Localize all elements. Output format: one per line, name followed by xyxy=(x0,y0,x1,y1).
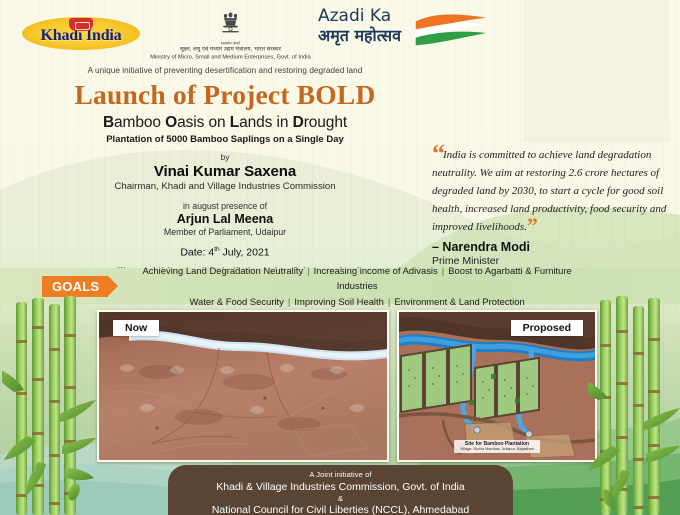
date-suffix: July, 2021 xyxy=(220,246,270,258)
goals-row-1: Achieving Land Degradation Neutrality|In… xyxy=(134,263,580,293)
goal-separator: | xyxy=(442,265,444,276)
quote-open-mark: “ xyxy=(432,139,443,168)
charkha-spinning-wheel-icon xyxy=(69,18,93,31)
goal-item: Water & Food Security xyxy=(190,296,284,307)
main-text-block: A unique initiative of preventing desert… xyxy=(30,66,420,289)
tagline: A unique initiative of preventing desert… xyxy=(30,66,420,75)
quote-body: “India is committed to achieve land degr… xyxy=(432,145,670,235)
ministry-english-label: Ministry of Micro, Small and Medium Ente… xyxy=(134,54,328,62)
caption-subtitle: Village: Nichla Mandwa, Udaipur, Rajasth… xyxy=(460,447,534,452)
plantation-line: Plantation of 5000 Bamboo Saplings on a … xyxy=(30,134,420,145)
photo-label-now: Now xyxy=(113,320,159,336)
presence-label: in august presence of xyxy=(30,201,420,211)
photos-section: Now xyxy=(0,304,680,474)
subtitle-ands: ands in xyxy=(239,114,293,131)
goal-item: Improving Soil Health xyxy=(294,296,384,307)
footer-card: A Joint initiative of Khadi & Village In… xyxy=(168,465,513,515)
satellite-photo-proposed: Proposed Site for Bamboo Plantation Vill… xyxy=(397,310,597,462)
subtitle-amboo: amboo xyxy=(114,114,165,131)
satellite-photo-now: Now xyxy=(97,310,389,462)
quote-author: – Narendra Modi xyxy=(432,240,670,254)
goal-item: Increasing income of Adivasis xyxy=(314,265,438,276)
goals-tag: GOALS xyxy=(42,276,108,297)
narendra-modi-portrait xyxy=(523,0,670,142)
subtitle-l: L xyxy=(230,114,239,131)
proposed-photo-caption: Site for Bamboo Plantation Village: Nich… xyxy=(454,440,540,453)
goals-row-2: Water & Food Security|Improving Soil Hea… xyxy=(134,294,580,309)
chief-guest-role: Chairman, Khadi and Village Industries C… xyxy=(30,181,420,192)
subtitle-o: O xyxy=(165,114,177,131)
poster-header: Khadi India सत्यमेव जयते सूक्ष्म, लघु एव… xyxy=(0,0,680,62)
subtitle-acronym: Bamboo Oasis on Lands in Drought xyxy=(30,114,420,131)
footer-ampersand: & xyxy=(168,494,513,503)
goal-item: Achieving Land Degradation Neutrality xyxy=(142,265,303,276)
subtitle-d: D xyxy=(293,114,304,131)
event-date: Date: 4th July, 2021 xyxy=(30,246,420,259)
goal-separator: | xyxy=(388,296,390,307)
guest-role: Member of Parliament, Udaipur xyxy=(30,227,420,237)
quote-close-mark: ” xyxy=(527,213,536,238)
poster-root: Khadi India सत्यमेव जयते सूक्ष्म, लघु एव… xyxy=(0,0,680,515)
ministry-block: सत्यमेव जयते सूक्ष्म, लघु एवं मध्यम उद्य… xyxy=(168,10,293,60)
azadi-ka-amrit-mahotsav-logo: Azadi Ka अमृत महोत्सव xyxy=(318,8,493,56)
date-prefix: Date: 4 xyxy=(180,246,214,258)
khadi-india-logo: Khadi India xyxy=(22,17,140,50)
photo-label-proposed: Proposed xyxy=(511,320,583,336)
footer-org-2: National Council for Civil Liberties (NC… xyxy=(168,504,513,515)
india-state-emblem-icon xyxy=(218,10,243,40)
goals-band: GOALS Achieving Land Degradation Neutral… xyxy=(0,268,680,304)
goal-item: Environment & Land Protection xyxy=(394,296,524,307)
by-label: by xyxy=(30,152,420,162)
quote-text: India is committed to achieve land degra… xyxy=(432,149,666,233)
subtitle-asis: asis on xyxy=(177,114,230,131)
subtitle-b: B xyxy=(103,114,114,131)
page-title: Launch of Project BOLD xyxy=(30,80,420,110)
caption-title: Site for Bamboo Plantation xyxy=(460,441,534,448)
tricolour-flag-swoosh-icon xyxy=(411,12,489,52)
chief-guest-name: Vinai Kumar Saxena xyxy=(30,163,420,180)
goal-separator: | xyxy=(307,265,309,276)
guest-name: Arjun Lal Meena xyxy=(30,212,420,226)
goal-separator: | xyxy=(288,296,290,307)
footer-org-1: Khadi & Village Industries Commission, G… xyxy=(168,481,513,493)
footer-joint-label: A Joint initiative of xyxy=(168,470,513,479)
goals-list: Achieving Land Degradation Neutrality|In… xyxy=(134,263,580,309)
subtitle-rought: rought xyxy=(304,114,347,131)
